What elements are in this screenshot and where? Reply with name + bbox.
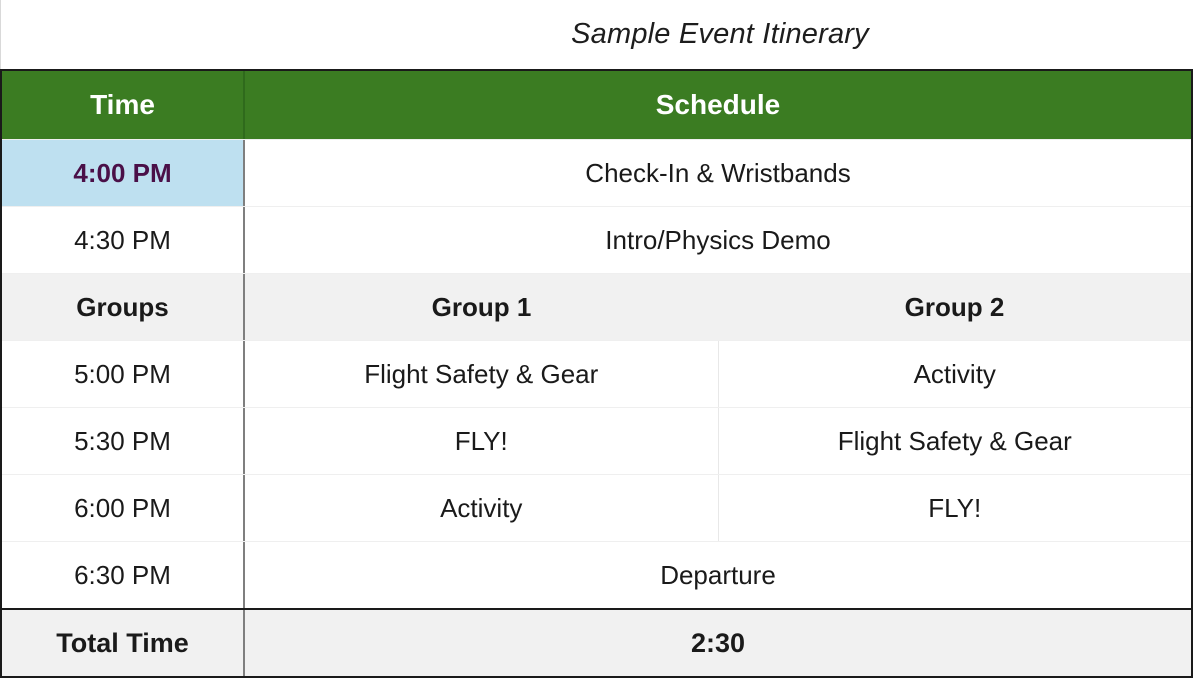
total-time-label-cell[interactable]: Total Time [2, 610, 245, 676]
time-cell[interactable]: 6:30 PM [2, 542, 245, 608]
total-time-value-cell[interactable]: 2:30 [245, 610, 1191, 676]
group1-cell[interactable]: Activity [245, 475, 719, 541]
group2-cell[interactable]: Flight Safety & Gear [719, 408, 1192, 474]
group2-cell[interactable]: Activity [719, 341, 1192, 407]
header-cell-time[interactable]: Time [2, 71, 245, 139]
schedule-cell[interactable]: Check-In & Wristbands [245, 140, 1191, 206]
title-row[interactable]: Sample Event Itinerary [0, 0, 1193, 69]
table-row: 4:00 PM Check-In & Wristbands [2, 139, 1191, 206]
time-cell[interactable]: 5:00 PM [2, 341, 245, 407]
table-row: 6:30 PM Departure [2, 541, 1191, 608]
spreadsheet-canvas: Sample Event Itinerary Time Schedule 4:0… [0, 0, 1200, 678]
table-row: 6:00 PM Activity FLY! [2, 474, 1191, 541]
group2-header-cell[interactable]: Group 2 [718, 274, 1191, 340]
group1-cell[interactable]: FLY! [245, 408, 719, 474]
schedule-cell[interactable]: Departure [245, 542, 1191, 608]
schedule-cell[interactable]: Intro/Physics Demo [245, 207, 1191, 273]
table-row: 5:30 PM FLY! Flight Safety & Gear [2, 407, 1191, 474]
table-total-row: Total Time 2:30 [2, 608, 1191, 676]
itinerary-table: Time Schedule 4:00 PM Check-In & Wristba… [0, 69, 1193, 678]
table-row: 4:30 PM Intro/Physics Demo [2, 206, 1191, 273]
time-cell-selected[interactable]: 4:00 PM [2, 140, 245, 206]
table-row: 5:00 PM Flight Safety & Gear Activity [2, 340, 1191, 407]
page-title: Sample Event Itinerary [246, 0, 1194, 69]
table-header-row: Time Schedule [2, 71, 1191, 139]
group1-cell[interactable]: Flight Safety & Gear [245, 341, 719, 407]
groups-label-cell[interactable]: Groups [2, 274, 245, 340]
header-cell-schedule[interactable]: Schedule [245, 71, 1191, 139]
group1-header-cell[interactable]: Group 1 [245, 274, 718, 340]
time-cell[interactable]: 6:00 PM [2, 475, 245, 541]
table-row-groups: Groups Group 1 Group 2 [2, 273, 1191, 340]
group2-cell[interactable]: FLY! [719, 475, 1192, 541]
time-cell[interactable]: 5:30 PM [2, 408, 245, 474]
time-cell[interactable]: 4:30 PM [2, 207, 245, 273]
